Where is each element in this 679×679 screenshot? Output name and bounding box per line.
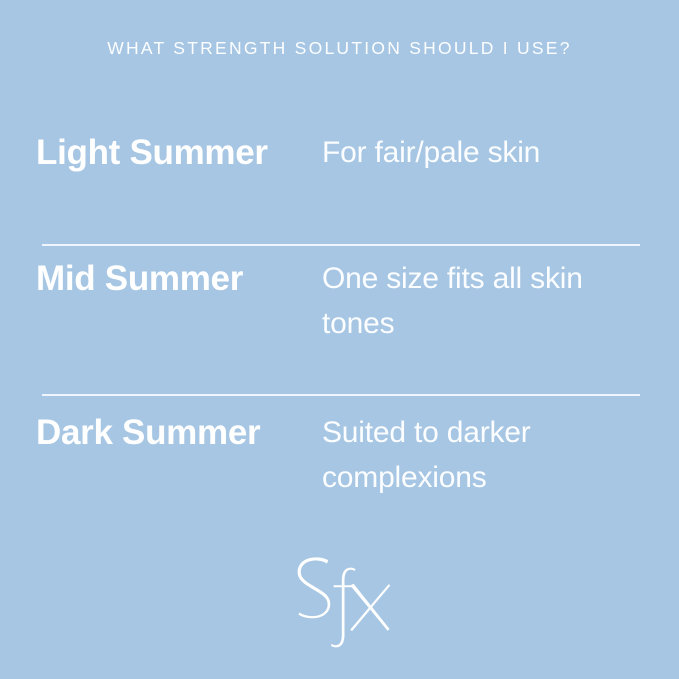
option-title: Light Summer	[36, 130, 322, 176]
sfx-logo-icon	[284, 556, 396, 652]
page-title: WHAT STRENGTH SOLUTION SHOULD I USE?	[0, 38, 679, 59]
option-description: For fair/pale skin	[322, 130, 622, 175]
list-item-dark-summer: Dark Summer Suited to darker complexions	[0, 410, 679, 500]
divider-after-light-summer	[42, 244, 640, 246]
strength-solution-card: WHAT STRENGTH SOLUTION SHOULD I USE? Lig…	[0, 0, 679, 679]
option-title: Mid Summer	[36, 256, 322, 302]
option-description: One size fits all skin tones	[322, 256, 622, 346]
brand-logo	[0, 556, 679, 656]
list-item-light-summer: Light Summer For fair/pale skin	[0, 130, 679, 176]
list-item-mid-summer: Mid Summer One size fits all skin tones	[0, 256, 679, 346]
option-title: Dark Summer	[36, 410, 322, 456]
option-description: Suited to darker complexions	[322, 410, 622, 500]
header: WHAT STRENGTH SOLUTION SHOULD I USE?	[0, 38, 679, 59]
divider-after-mid-summer	[42, 394, 640, 396]
strength-options-list: Light Summer For fair/pale skin Mid Summ…	[0, 120, 679, 500]
